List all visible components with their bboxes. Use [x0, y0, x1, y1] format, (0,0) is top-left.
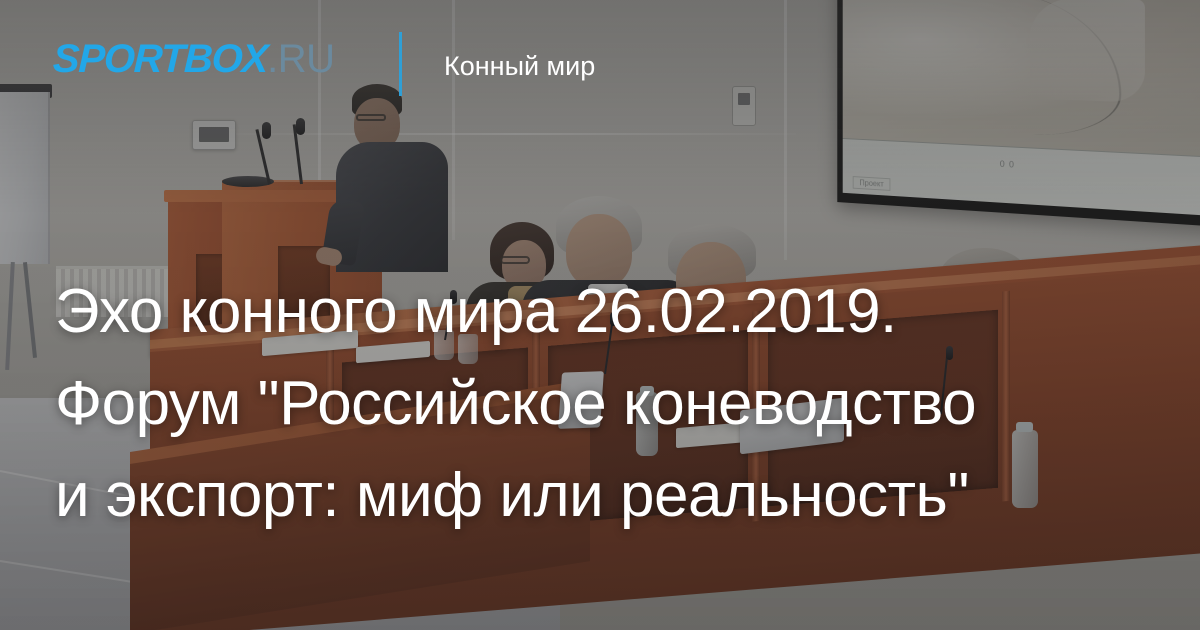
logo-tld-text: .RU — [267, 37, 334, 81]
headline-line-1: Эхо конного мира 26.02.2019. — [55, 266, 1155, 358]
headline-line-3: и экспорт: миф или реальность" — [55, 450, 1155, 542]
page-title: Эхо конного мира 26.02.2019. Форум "Росс… — [55, 266, 1155, 542]
logo-brand-text: SPORTBOX — [52, 39, 268, 79]
social-preview-card: 0 0 Проект — [0, 0, 1200, 630]
headline-line-2: Форум "Российское коневодство — [55, 358, 1155, 450]
header-divider — [399, 32, 402, 96]
section-label[interactable]: Конный мир — [444, 52, 595, 82]
header-bar: SPORTBOX.RU Конный мир — [0, 0, 1200, 128]
sportbox-logo[interactable]: SPORTBOX.RU — [53, 39, 335, 79]
